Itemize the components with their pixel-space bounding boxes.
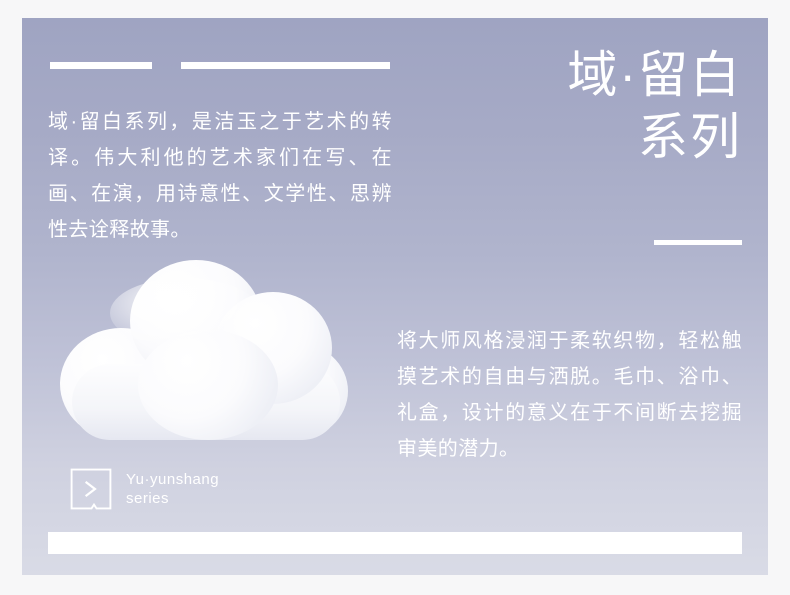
- product-banner: 域·留白系列，是洁玉之于艺术的转译。伟大利他的艺术家们在写、在画、在演，用诗意性…: [22, 18, 768, 575]
- cloud-highlight: [110, 278, 260, 348]
- bottom-rule-bar: [48, 532, 742, 554]
- cloud-illustration: [56, 256, 366, 456]
- headline-underline-rule: [654, 240, 742, 245]
- top-rule-long: [181, 62, 390, 69]
- chevron-right-in-square-icon: [70, 468, 112, 510]
- cloud-puff-center: [138, 330, 278, 440]
- feature-paragraph: 将大师风格浸润于柔软织物，轻松触摸艺术的自由与洒脱。毛巾、浴巾、礼盒，设计的意义…: [397, 323, 742, 467]
- headline-title: 域·留白 系列: [412, 44, 742, 168]
- brand-lockup: Yu·yunshang series: [70, 468, 219, 510]
- top-rule-short: [50, 62, 152, 69]
- intro-paragraph: 域·留白系列，是洁玉之于艺术的转译。伟大利他的艺术家们在写、在画、在演，用诗意性…: [48, 104, 392, 248]
- brand-name: Yu·yunshang series: [126, 470, 219, 508]
